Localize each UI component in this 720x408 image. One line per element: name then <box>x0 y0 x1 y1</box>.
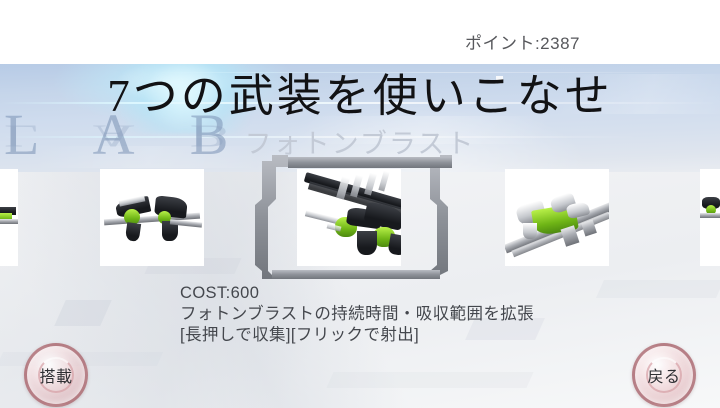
controls-line: [長押しで収集][フリックで射出] <box>180 325 700 346</box>
list-item[interactable] <box>700 169 720 266</box>
equip-button-label: 搭載 <box>39 363 72 387</box>
cost-line: COST:600 <box>180 283 700 304</box>
weapon-description: COST:600 フォトンブラストの持続時間・吸収範囲を拡張 [長押しで収集][… <box>180 283 700 346</box>
bg-streak <box>54 300 112 326</box>
list-item-selected[interactable] <box>297 169 401 266</box>
effect-line: フォトンブラストの持続時間・吸収範囲を拡張 <box>180 304 700 325</box>
top-bar <box>0 0 720 66</box>
list-item[interactable] <box>0 169 18 266</box>
list-item[interactable] <box>100 169 204 266</box>
equip-button[interactable]: 搭載 <box>24 343 88 407</box>
back-button[interactable]: 戻る <box>632 343 696 407</box>
bg-streak <box>326 372 533 388</box>
points-display: ポイント:2387 <box>465 29 580 54</box>
list-item[interactable] <box>505 169 609 266</box>
game-screen: ポイント:2387 L A B L A B 7つの武装を使いこなせ フォトンブラ… <box>0 0 720 408</box>
weapon-carousel[interactable] <box>0 155 720 280</box>
back-button-label: 戻る <box>647 363 680 387</box>
page-title: 7つの武装を使いこなせ <box>0 72 720 122</box>
